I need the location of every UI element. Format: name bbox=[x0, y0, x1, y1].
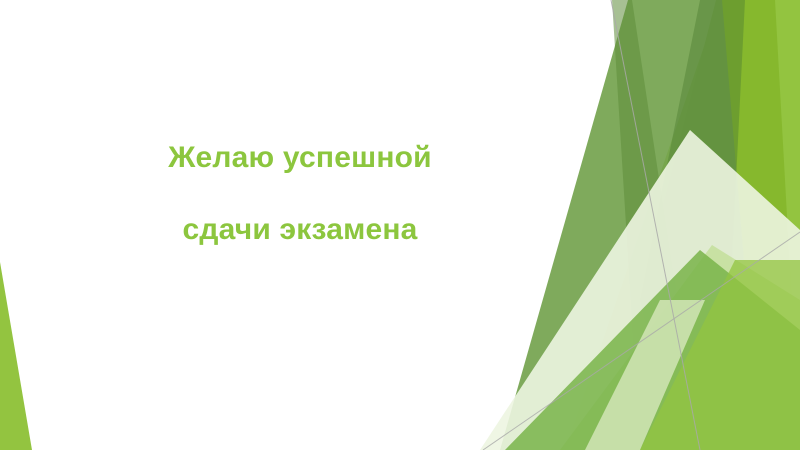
slide-canvas: Желаю успешной сдачи экзамена bbox=[0, 0, 800, 450]
title-line-1: Желаю успешной bbox=[60, 140, 540, 176]
shape-pale-mid bbox=[560, 245, 800, 450]
title-text-block: Желаю успешной сдачи экзамена bbox=[60, 140, 540, 248]
title-line-2: сдачи экзамена bbox=[60, 212, 540, 248]
title-line-spacer bbox=[60, 176, 540, 212]
shape-green-lower-diagonal bbox=[505, 250, 800, 450]
shape-bright-lower bbox=[640, 260, 800, 450]
shape-pale-strip bbox=[585, 300, 705, 450]
shape-olive-sliver bbox=[612, 0, 700, 450]
shape-right-base bbox=[565, 0, 800, 450]
hairline-shallow bbox=[483, 232, 800, 450]
shape-left-accent bbox=[0, 262, 32, 450]
shape-bright-wedge bbox=[600, 0, 800, 450]
shape-dark-chevron bbox=[640, 0, 745, 430]
hairline-steep bbox=[611, 0, 700, 450]
